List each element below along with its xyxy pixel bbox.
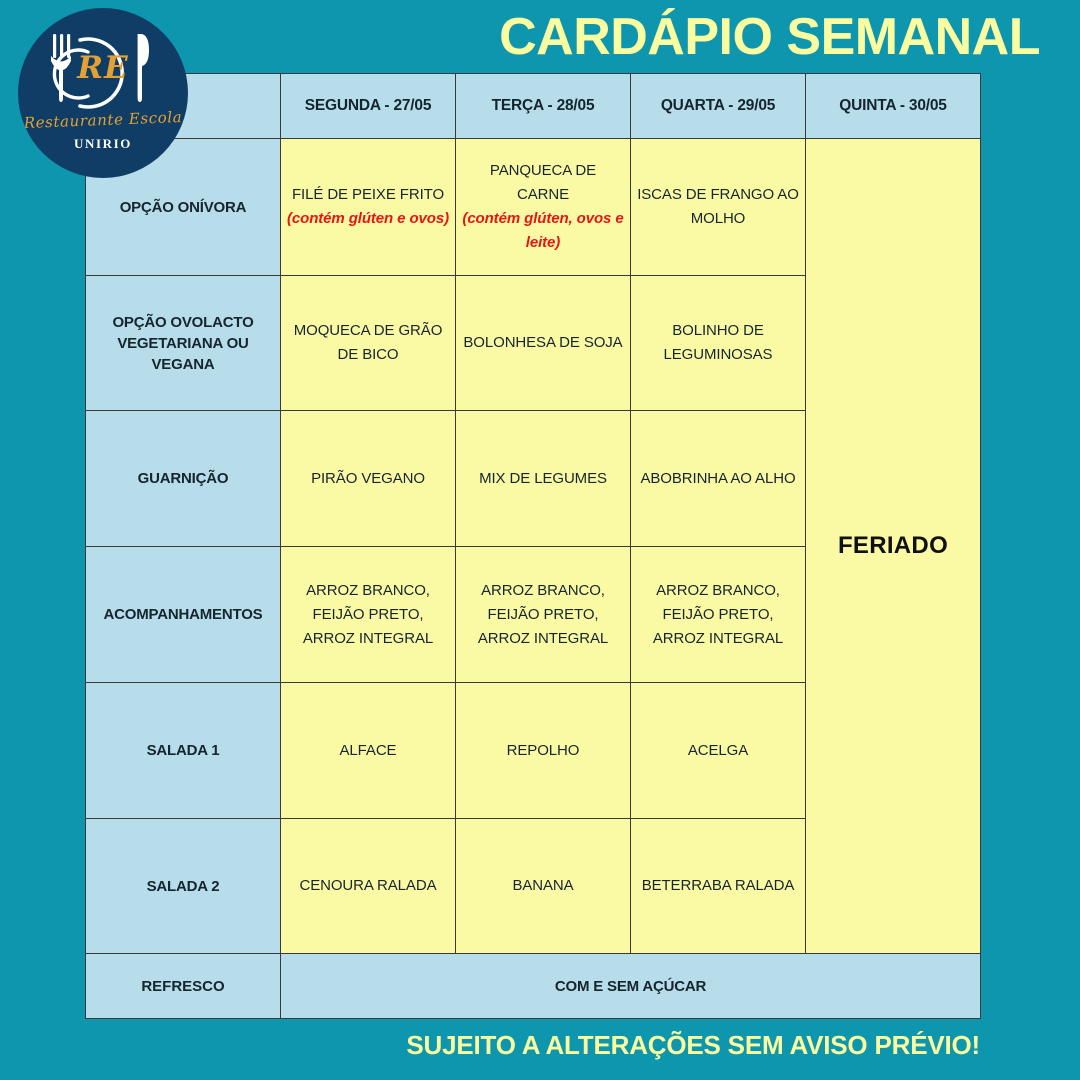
cell-acompanhamentos-segunda: ARROZ BRANCO, FEIJÃO PRETO, ARROZ INTEGR…	[281, 547, 456, 683]
cell-opcao-onivora-segunda: FILÉ DE PEIXE FRITO (contém glúten e ovo…	[281, 139, 456, 276]
logo-subtitle: UNIRIO	[18, 136, 188, 152]
row-label-acompanhamentos: ACOMPANHAMENTOS	[86, 547, 281, 683]
cell-opcao-onivora-terca: PANQUECA DE CARNE (contém glúten, ovos e…	[456, 139, 631, 276]
cell-salada-2-terca: BANANA	[456, 819, 631, 954]
dish-name: ISCAS DE FRANGO AO MOLHO	[637, 186, 799, 227]
row-label-salada-1: SALADA 1	[86, 683, 281, 819]
header-cell-quarta: QUARTA - 29/05	[631, 74, 806, 139]
cell-salada-2-segunda: CENOURA RALADA	[281, 819, 456, 954]
cell-guarnicao-segunda: PIRÃO VEGANO	[281, 411, 456, 547]
cell-salada-1-segunda: ALFACE	[281, 683, 456, 819]
allergen-note: (contém glúten, ovos e leite)	[462, 207, 624, 255]
allergen-note: (contém glúten e ovos)	[287, 207, 449, 231]
cell-opcao-vegetariana-segunda: MOQUECA DE GRÃO DE BICO	[281, 276, 456, 411]
cell-opcao-vegetariana-quarta: BOLINHO DE LEGUMINOSAS	[631, 276, 806, 411]
logo-monogram: RE	[18, 50, 188, 86]
header-cell-terca: TERÇA - 28/05	[456, 74, 631, 139]
header-cell-quinta: QUINTA - 30/05	[806, 74, 981, 139]
cell-acompanhamentos-quarta: ARROZ BRANCO, FEIJÃO PRETO, ARROZ INTEGR…	[631, 547, 806, 683]
table-row: OPÇÃO ONÍVORA FILÉ DE PEIXE FRITO (conté…	[86, 139, 981, 276]
cell-acompanhamentos-terca: ARROZ BRANCO, FEIJÃO PRETO, ARROZ INTEGR…	[456, 547, 631, 683]
footer-notice: SUJEITO A ALTERAÇÕES SEM AVISO PRÉVIO!	[340, 1030, 980, 1061]
page-title: CARDÁPIO SEMANAL	[340, 8, 1040, 66]
row-label-opcao-vegetariana: OPÇÃO OVOLACTO VEGETARIANA OU VEGANA	[86, 276, 281, 411]
cell-guarnicao-terca: MIX DE LEGUMES	[456, 411, 631, 547]
weekly-menu-table: SEGUNDA - 27/05 TERÇA - 28/05 QUARTA - 2…	[85, 73, 981, 1019]
row-label-salada-2: SALADA 2	[86, 819, 281, 954]
cell-opcao-vegetariana-terca: BOLONHESA DE SOJA	[456, 276, 631, 411]
cell-salada-2-quarta: BETERRABA RALADA	[631, 819, 806, 954]
table-header-row: SEGUNDA - 27/05 TERÇA - 28/05 QUARTA - 2…	[86, 74, 981, 139]
logo-graphic	[18, 8, 188, 178]
row-label-guarnicao: GUARNIÇÃO	[86, 411, 281, 547]
cell-salada-1-quarta: ACELGA	[631, 683, 806, 819]
row-label-refresco: REFRESCO	[86, 954, 281, 1019]
dish-name: PANQUECA DE CARNE	[490, 162, 596, 203]
cell-refresco-value: COM E SEM AÇÚCAR	[281, 954, 981, 1019]
header-cell-segunda: SEGUNDA - 27/05	[281, 74, 456, 139]
cell-salada-1-terca: REPOLHO	[456, 683, 631, 819]
table-row-refresco: REFRESCO COM E SEM AÇÚCAR	[86, 954, 981, 1019]
cell-opcao-onivora-quarta: ISCAS DE FRANGO AO MOLHO	[631, 139, 806, 276]
cell-guarnicao-quarta: ABOBRINHA AO ALHO	[631, 411, 806, 547]
restaurante-escola-logo: RE Restaurante Escola UNIRIO	[18, 8, 188, 178]
dish-name: FILÉ DE PEIXE FRITO	[292, 186, 444, 203]
cell-feriado-quinta: FERIADO	[806, 139, 981, 954]
